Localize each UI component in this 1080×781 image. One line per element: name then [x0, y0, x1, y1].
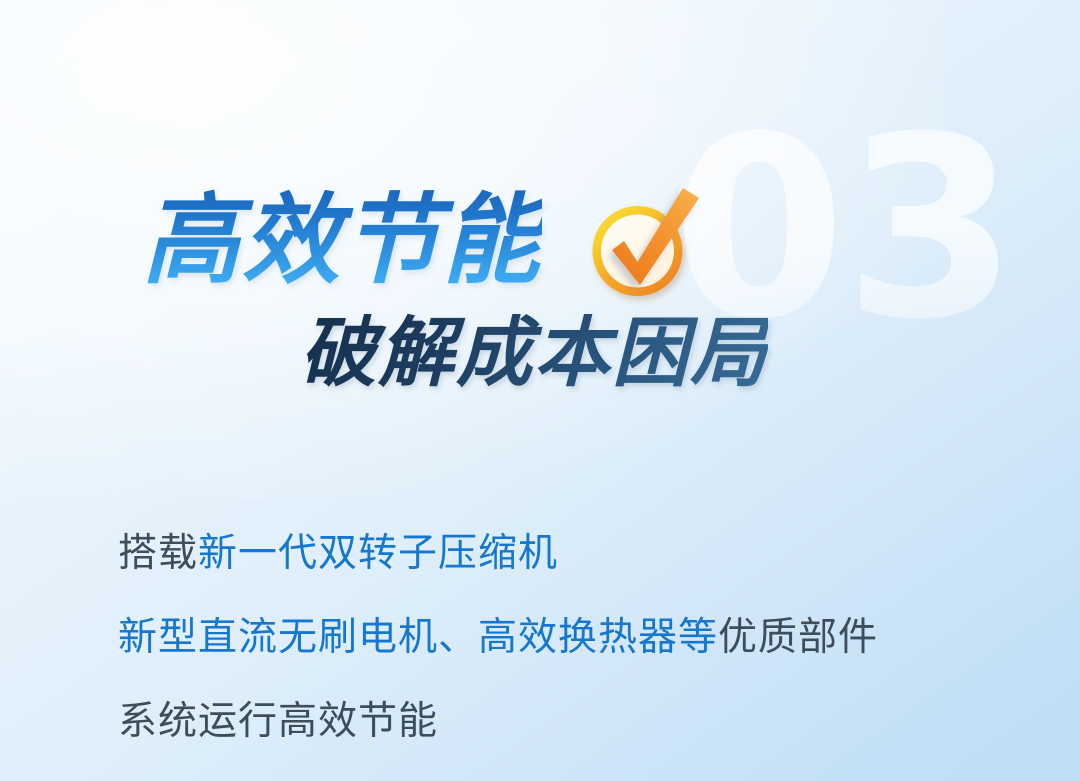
feature-list: 搭载新一代双转子压缩机 新型直流无刷电机、高效换热器等优质部件 系统运行高效节能: [118, 534, 1018, 741]
list-item-segment-1: 搭载: [118, 532, 198, 575]
list-item: 搭载新一代双转子压缩机: [118, 534, 1018, 573]
list-item-segment-1: 新型直流无刷电机、高效换热器等: [118, 616, 718, 659]
list-item-segment-2: 优质部件: [718, 616, 878, 659]
list-item: 系统运行高效节能: [118, 702, 1018, 741]
list-item: 新型直流无刷电机、高效换热器等优质部件: [118, 618, 1018, 657]
page-title: 高效节能: [142, 186, 542, 296]
list-item-segment-2: 新一代双转子压缩机: [198, 532, 558, 575]
page-subtitle: 破解成本困局: [300, 310, 768, 397]
list-item-segment-1: 系统运行高效节能: [118, 700, 438, 743]
slide-canvas: 03 高效节能: [0, 0, 1080, 781]
